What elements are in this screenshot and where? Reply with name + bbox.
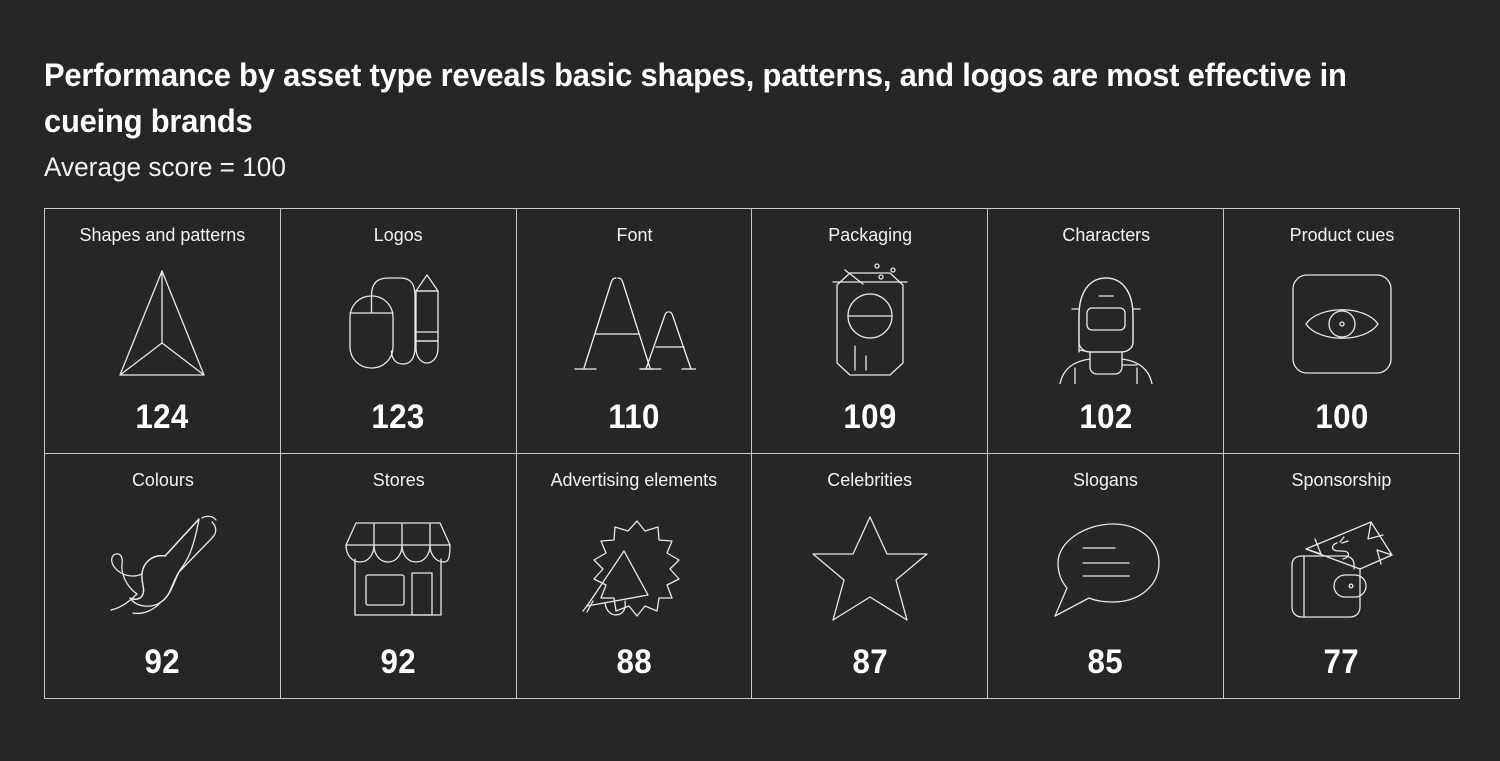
cell-label: Advertising elements [551, 469, 718, 491]
megaphone-burst-icon [521, 491, 748, 645]
star-icon [756, 491, 983, 645]
header: Performance by asset type reveals basic … [44, 52, 1460, 184]
cell-label: Product cues [1289, 224, 1394, 246]
cell-colours[interactable]: Colours 92 [45, 454, 281, 699]
cell-characters[interactable]: Characters 102 [988, 209, 1224, 454]
paintbrush-icon [49, 491, 276, 645]
cell-product-cues[interactable]: Product cues 100 [1224, 209, 1460, 454]
cell-label: Font [616, 224, 652, 246]
cell-stores[interactable]: Stores 92 [281, 454, 517, 699]
page-subtitle: Average score = 100 [44, 151, 1418, 183]
cell-label: Logos [374, 224, 423, 246]
cell-value: 92 [380, 645, 416, 679]
mouse-pencil-icon [285, 246, 512, 400]
infographic-page: Performance by asset type reveals basic … [0, 0, 1500, 761]
cell-value: 77 [1324, 645, 1360, 679]
cell-label: Celebrities [828, 469, 913, 491]
cell-value: 100 [1315, 400, 1368, 434]
cell-value: 92 [145, 645, 181, 679]
pyramid-icon [49, 246, 276, 400]
cell-advertising-elements[interactable]: Advertising elements 88 [517, 454, 753, 699]
cell-label: Shapes and patterns [80, 224, 246, 246]
cell-label: Colours [131, 469, 193, 491]
cell-font[interactable]: Font 110 [517, 209, 753, 454]
cell-sponsorship[interactable]: Sponsorship 77 [1224, 454, 1460, 699]
cell-value: 102 [1079, 400, 1132, 434]
cell-celebrities[interactable]: Celebrities 87 [752, 454, 988, 699]
cell-logos[interactable]: Logos 123 [281, 209, 517, 454]
cell-value: 87 [852, 645, 888, 679]
letters-aa-icon [521, 246, 748, 400]
cell-value: 85 [1088, 645, 1124, 679]
wallet-banknote-icon [1228, 491, 1455, 645]
cell-value: 123 [372, 400, 425, 434]
cell-value: 124 [136, 400, 189, 434]
cell-packaging[interactable]: Packaging 109 [752, 209, 988, 454]
cell-value: 88 [616, 645, 652, 679]
cell-label: Stores [372, 469, 424, 491]
cell-shapes-and-patterns[interactable]: Shapes and patterns 124 [45, 209, 281, 454]
storefront-icon [285, 491, 512, 645]
speech-bubble-icon [992, 491, 1219, 645]
cell-slogans[interactable]: Slogans 85 [988, 454, 1224, 699]
mascot-helmet-icon [992, 246, 1219, 400]
cell-label: Characters [1062, 224, 1150, 246]
asset-type-grid: Shapes and patterns 124 Logos [44, 208, 1460, 699]
cell-value: 110 [608, 400, 660, 434]
cell-label: Slogans [1073, 469, 1138, 491]
eye-in-square-icon [1228, 246, 1455, 400]
cell-label: Packaging [828, 224, 912, 246]
soda-can-icon [756, 246, 983, 400]
cell-value: 109 [843, 400, 896, 434]
cell-label: Sponsorship [1292, 469, 1392, 491]
page-title: Performance by asset type reveals basic … [44, 52, 1410, 144]
